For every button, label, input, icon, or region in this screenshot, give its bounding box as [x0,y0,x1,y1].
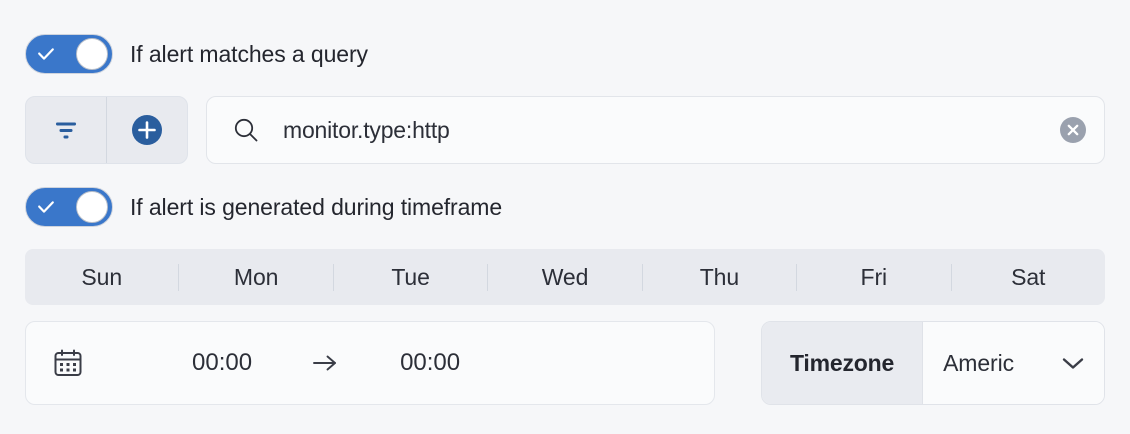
search-input[interactable] [283,117,1060,144]
toggle-knob [76,38,108,70]
arrow-right-icon [311,352,339,374]
filter-icon [54,119,78,141]
alert-conditions-panel: If alert matches a query [0,0,1130,434]
query-condition-row: If alert matches a query [25,34,368,74]
filter-button[interactable] [26,97,106,163]
weekday-sun[interactable]: Sun [25,264,178,291]
search-icon [233,117,259,143]
chevron-down-icon [1060,355,1086,371]
check-icon [36,197,56,217]
query-input-row [25,96,1105,164]
time-range-end[interactable]: 00:00 [400,349,460,377]
weekday-fri[interactable]: Fri [796,264,950,291]
weekday-selector: Sun Mon Tue Wed Thu Fri Sat [25,249,1105,305]
toggle-knob [76,191,108,223]
weekday-thu[interactable]: Thu [642,264,796,291]
timezone-label: Timezone [762,322,923,404]
weekday-sat[interactable]: Sat [951,264,1105,291]
query-button-group [25,96,188,164]
timezone-value: Americ [943,350,1014,377]
weekday-wed[interactable]: Wed [487,264,641,291]
timezone-control: Timezone Americ [761,321,1105,405]
timeframe-settings-row: 00:00 00:00 Timezone Americ [25,321,1105,405]
timeframe-condition-label: If alert is generated during timeframe [130,194,502,221]
time-range-field[interactable]: 00:00 00:00 [25,321,715,405]
clear-search-icon[interactable] [1060,117,1086,143]
weekday-mon[interactable]: Mon [178,264,332,291]
timeframe-condition-toggle[interactable] [25,187,113,227]
time-range-start[interactable]: 00:00 [192,349,252,377]
weekday-tue[interactable]: Tue [333,264,487,291]
query-condition-label: If alert matches a query [130,41,368,68]
timeframe-condition-row: If alert is generated during timeframe [25,187,502,227]
plus-circle-icon [131,114,163,146]
query-search-field[interactable] [206,96,1105,164]
timezone-select[interactable]: Americ [923,322,1104,404]
calendar-icon [53,348,83,378]
add-query-button[interactable] [106,97,187,163]
check-icon [36,44,56,64]
query-condition-toggle[interactable] [25,34,113,74]
